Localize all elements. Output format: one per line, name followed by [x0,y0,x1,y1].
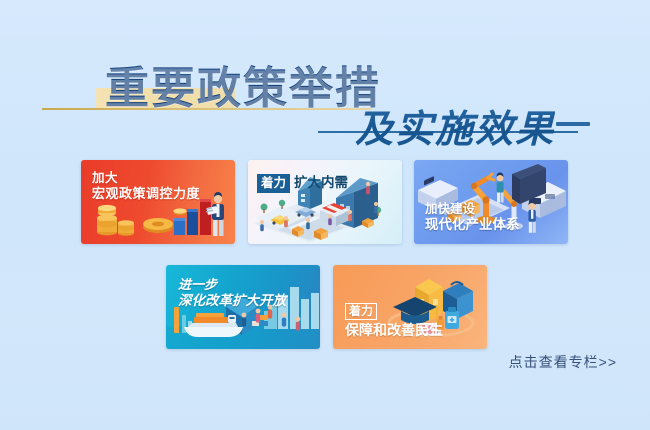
title-tail-dash [556,122,590,126]
view-column-link[interactable]: 点击查看专栏>> [509,352,617,372]
page-title-line-2: 及实施效果 [355,98,555,153]
card-modern-industry-line-1: 加快建设 [425,202,520,217]
page-title-line-1: 重要政策举措 [105,52,381,116]
card-modern-industry-line-2: 现代化产业体系 [425,217,520,233]
banner-title-area: 重要政策举措 及实施效果 [0,56,650,152]
card-reform-opening-line-2: 深化改革扩大开放 [178,293,286,309]
card-domestic-demand-line-1: 着力 [257,174,290,193]
card-macro-policy[interactable]: 加大 宏观政策调控力度 [81,160,235,244]
card-reform-opening-line-1: 进一步 [178,277,286,293]
card-modern-industry[interactable]: 加快建设 现代化产业体系 [414,160,568,244]
card-macro-policy-line-2: 宏观政策调控力度 [92,186,200,202]
card-peoples-livelihood-line-1: 着力 [345,303,377,320]
card-peoples-livelihood-label: 着力 保障和改善民生 [345,303,443,339]
card-peoples-livelihood[interactable]: 着力 保障和改善民生 [333,265,487,349]
card-macro-policy-label: 加大 宏观政策调控力度 [92,171,200,202]
card-modern-industry-label: 加快建设 现代化产业体系 [425,202,520,234]
policy-banner: 重要政策举措 及实施效果 [0,0,650,430]
isometric-city-shopping-illustration [248,160,402,244]
card-domestic-demand[interactable]: 着力 扩大内需 [248,160,402,244]
card-reform-opening-label: 进一步 深化改革扩大开放 [178,277,286,309]
card-reform-opening[interactable]: 进一步 深化改革扩大开放 [166,265,320,349]
card-domestic-demand-line-2: 扩大内需 [292,175,348,191]
card-peoples-livelihood-line-2: 保障和改善民生 [345,322,443,339]
card-domestic-demand-label: 着力 扩大内需 [257,174,348,193]
card-macro-policy-line-1: 加大 [92,171,200,186]
